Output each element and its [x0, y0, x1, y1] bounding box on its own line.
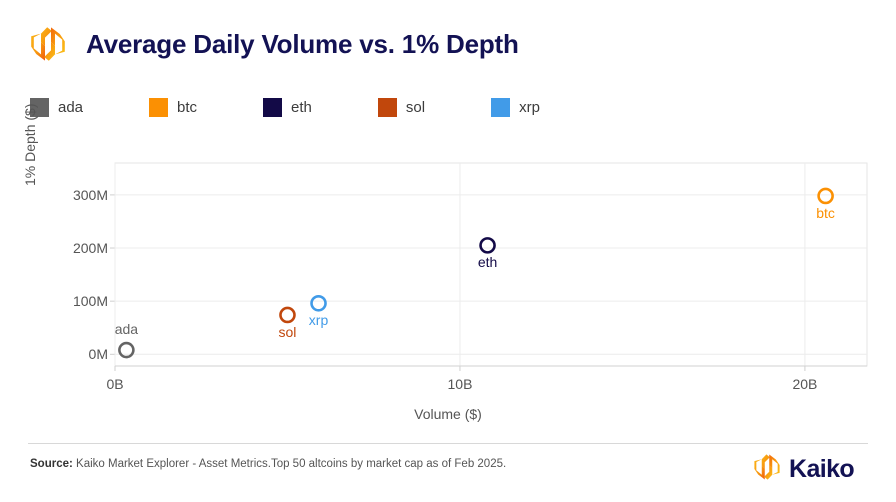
legend-swatch-btc: [149, 98, 168, 117]
legend-swatch-eth: [263, 98, 282, 117]
source-label: Source:: [30, 458, 73, 470]
kaiko-hexagon-icon-footer: [752, 452, 782, 487]
legend-item-eth[interactable]: eth: [263, 98, 312, 117]
page-title: Average Daily Volume vs. 1% Depth: [86, 31, 519, 57]
legend-item-btc[interactable]: btc: [149, 98, 197, 117]
chart-legend: ada btc eth sol xrp: [30, 98, 606, 117]
datapoint-xrp[interactable]: [312, 296, 326, 310]
y-axis-ticks: 0M100M200M300M: [38, 0, 108, 502]
footer-brand: Kaiko: [752, 452, 854, 487]
chart-header: Average Daily Volume vs. 1% Depth: [28, 24, 519, 64]
datapoint-label-ada: ada: [115, 321, 138, 337]
source-note: Source: Kaiko Market Explorer - Asset Me…: [30, 458, 506, 470]
legend-label-btc: btc: [177, 100, 197, 115]
legend-item-xrp[interactable]: xrp: [491, 98, 540, 117]
x-tick-label: 10B: [447, 376, 472, 392]
brand-wordmark: Kaiko: [789, 457, 854, 482]
legend-swatch-xrp: [491, 98, 510, 117]
legend-label-ada: ada: [58, 100, 83, 115]
footer-divider: [28, 443, 868, 444]
legend-label-eth: eth: [291, 100, 312, 115]
x-axis-title: Volume ($): [0, 406, 896, 422]
legend-label-xrp: xrp: [519, 100, 540, 115]
datapoint-label-sol: sol: [279, 324, 297, 340]
kaiko-hexagon-icon: [28, 24, 68, 64]
x-tick-label: 20B: [792, 376, 817, 392]
scatter-plot: 0M100M200M300M 0B10B20B adasolxrpethbtc …: [0, 0, 896, 502]
datapoint-btc[interactable]: [819, 189, 833, 203]
legend-item-ada[interactable]: ada: [30, 98, 83, 117]
x-tick-label: 0B: [106, 376, 123, 392]
y-tick-label: 100M: [38, 293, 108, 309]
datapoint-ada[interactable]: [119, 343, 133, 357]
datapoint-label-eth: eth: [478, 254, 497, 270]
y-tick-label: 200M: [38, 240, 108, 256]
datapoint-label-xrp: xrp: [309, 312, 328, 328]
legend-swatch-ada: [30, 98, 49, 117]
datapoint-sol[interactable]: [280, 308, 294, 322]
legend-item-sol[interactable]: sol: [378, 98, 425, 117]
y-tick-label: 0M: [38, 346, 108, 362]
datapoint-eth[interactable]: [481, 238, 495, 252]
y-tick-label: 300M: [38, 187, 108, 203]
source-text: Kaiko Market Explorer - Asset Metrics.To…: [73, 458, 506, 470]
legend-swatch-sol: [378, 98, 397, 117]
legend-label-sol: sol: [406, 100, 425, 115]
chart-card: Average Daily Volume vs. 1% Depth ada bt…: [0, 0, 896, 502]
datapoint-label-btc: btc: [816, 205, 835, 221]
